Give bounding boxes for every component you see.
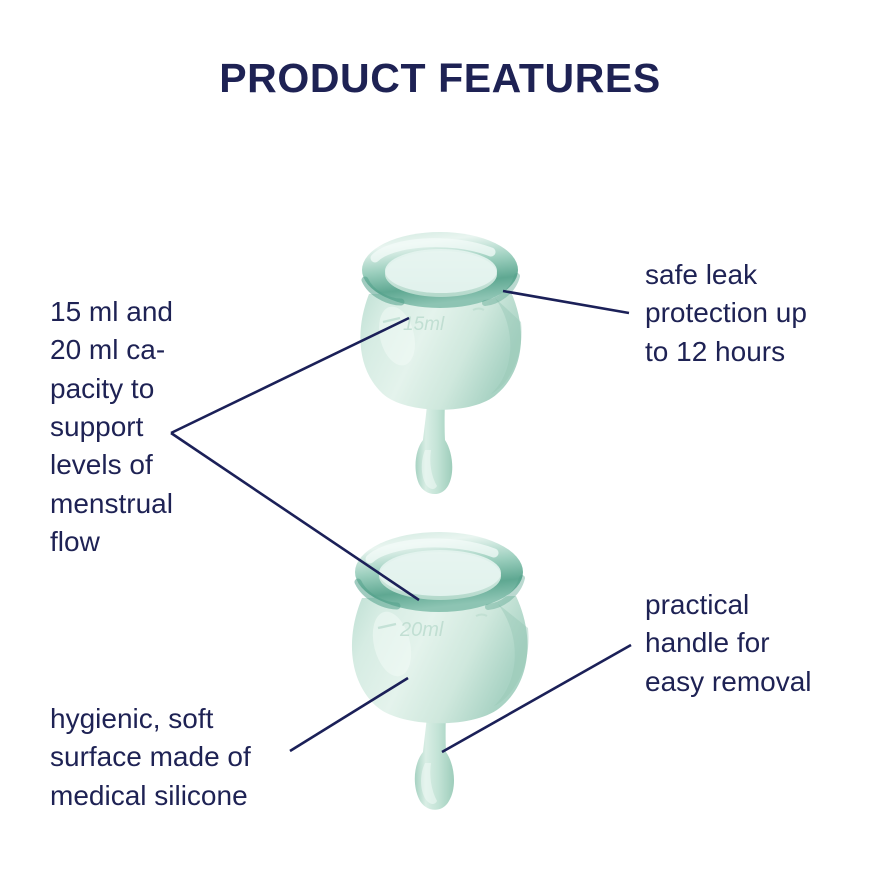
cup-20ml-bowl	[352, 596, 528, 723]
product-features-infographic: PRODUCT FEATURES	[0, 0, 880, 880]
callout-handle-text: practical handle for easy removal	[645, 586, 860, 701]
cup-15ml-capacity-emboss: 15ml	[403, 314, 445, 335]
product-image-cup-20ml: 20ml	[338, 518, 552, 818]
cup-15ml-rim-opening	[385, 249, 497, 293]
cup-20ml-svg: 20ml	[338, 518, 552, 818]
page-title: PRODUCT FEATURES	[0, 55, 880, 102]
callout-capacity-text: 15 ml and 20 ml ca- pacity to support le…	[50, 293, 250, 562]
cup-20ml-capacity-emboss: 20ml	[399, 619, 444, 641]
callout-leak-protection-text: safe leak protection up to 12 hours	[645, 256, 860, 371]
cup-15ml-bowl	[360, 292, 521, 410]
cup-20ml-rim-opening	[379, 550, 501, 596]
cup-15ml-svg: 15ml	[345, 218, 545, 503]
product-image-cup-15ml: 15ml	[345, 218, 545, 503]
callout-silicone-text: hygienic, soft surface made of medical s…	[50, 700, 320, 815]
